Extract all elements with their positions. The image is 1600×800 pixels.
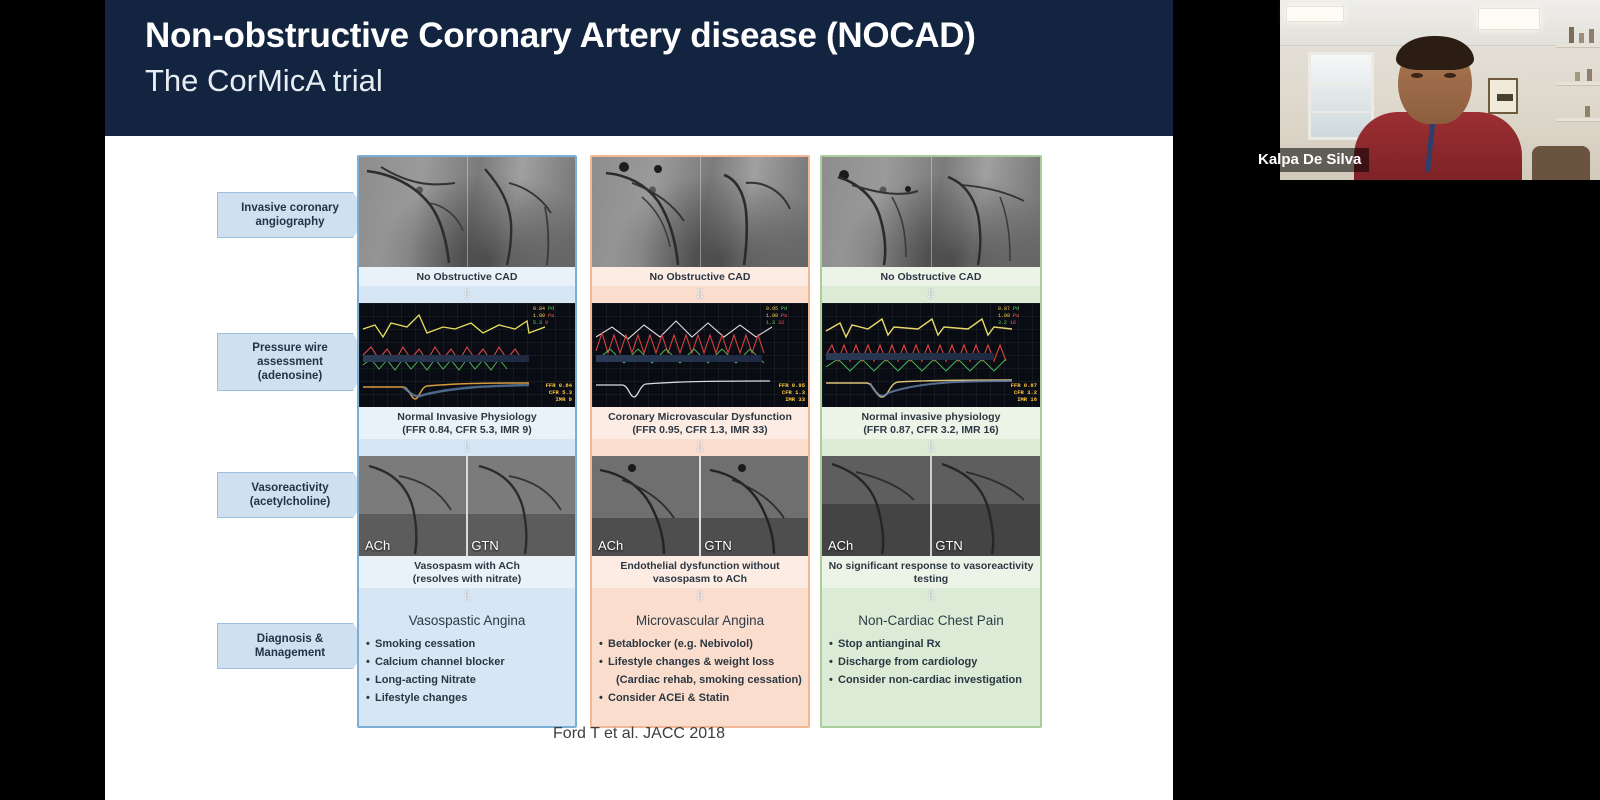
column-non-cardiac: No Obstructive CAD ⇩ 0.87 Pd 1.00 Pa bbox=[820, 155, 1042, 728]
screen: Non-obstructive Coronary Artery disease … bbox=[0, 0, 1600, 800]
angiogram-image bbox=[359, 157, 575, 267]
diagnosis-box: Microvascular Angina Betablocker (e.g. N… bbox=[592, 605, 808, 717]
vaso-caption-line1: No significant response to vasoreactivit… bbox=[826, 560, 1036, 573]
participant-name: Kalpa De Silva bbox=[1248, 148, 1369, 172]
list-item: Calcium channel blocker bbox=[365, 653, 569, 671]
vessel-overlay-icon bbox=[592, 456, 808, 556]
physiology-caption: Normal Invasive Physiology (FFR 0.84, CF… bbox=[359, 407, 575, 439]
angiogram-image bbox=[822, 157, 1040, 267]
vaso-caption-line1: Endothelial dysfunction without bbox=[596, 560, 804, 573]
wall-picture bbox=[1488, 78, 1518, 114]
angio-caption: No Obstructive CAD bbox=[822, 267, 1040, 286]
page-subtitle: The CorMicA trial bbox=[145, 60, 1173, 102]
list-item: (Cardiac rehab, smoking cessation) bbox=[598, 671, 802, 689]
list-item: Lifestyle changes & weight loss bbox=[598, 653, 802, 671]
physiology-caption: Normal invasive physiology (FFR 0.87, CF… bbox=[822, 407, 1040, 439]
management-list: Stop antianginal Rx Discharge from cardi… bbox=[828, 635, 1034, 689]
trace-values: FFR 0.84 CFR 5.3 IMR 9 bbox=[546, 382, 572, 403]
arrow-down-icon: ⇩ bbox=[693, 589, 707, 603]
shelf bbox=[1556, 118, 1600, 122]
vasoreactivity-caption: Endothelial dysfunction without vasospas… bbox=[592, 556, 808, 588]
angio-caption: No Obstructive CAD bbox=[359, 267, 575, 286]
physiology-caption-line2: (FFR 0.84, CFR 5.3, IMR 9) bbox=[363, 424, 571, 437]
vasoreactivity-caption: No significant response to vasoreactivit… bbox=[822, 556, 1040, 588]
physiology-caption: Coronary Microvascular Dysfunction (FFR … bbox=[592, 407, 808, 439]
trace-readout: 0.87 Pd 1.00 Pa 3.2 16 bbox=[998, 306, 1038, 327]
list-item: Lifestyle changes bbox=[365, 689, 569, 707]
stage-label-text: Diagnosis & Management bbox=[226, 632, 354, 660]
stage-label-vasoreactivity: Vasoreactivity (acetylcholine) bbox=[217, 472, 369, 518]
column-microvascular: No Obstructive CAD ⇩ 0.95 Pd 1.00 Pa 1. bbox=[590, 155, 810, 728]
vessel-overlay-icon bbox=[822, 456, 1040, 556]
physiology-caption-line2: (FFR 0.95, CFR 1.3, IMR 33) bbox=[596, 424, 804, 437]
list-item: Betablocker (e.g. Nebivolol) bbox=[598, 635, 802, 653]
arrow-down-icon: ⇩ bbox=[693, 287, 707, 301]
ach-label: ACh bbox=[828, 538, 853, 553]
angio-caption: No Obstructive CAD bbox=[592, 267, 808, 286]
stage-label-text: Invasive coronary angiography bbox=[226, 201, 354, 229]
ceiling-light bbox=[1286, 6, 1344, 22]
arrow-down-icon: ⇩ bbox=[460, 287, 474, 301]
diagnosis-box: Vasospastic Angina Smoking cessation Cal… bbox=[359, 605, 575, 717]
trace-values: FFR 0.95 CFR 1.3 IMR 33 bbox=[779, 382, 805, 403]
trace-readout: 0.84 Pd 1.00 Pa 5.3 9 bbox=[533, 306, 573, 327]
trace-readout: 0.95 Pd 1.00 Pa 1.3 33 bbox=[766, 306, 806, 327]
vasoreactivity-caption: Vasospasm with ACh (resolves with nitrat… bbox=[359, 556, 575, 588]
ceiling-light bbox=[1478, 8, 1540, 30]
pressure-wire-trace-image: 0.84 Pd 1.00 Pa 5.3 9 FFR 0.84 CFR 5.3 I… bbox=[359, 303, 575, 407]
chair bbox=[1532, 146, 1590, 180]
vessel-overlay-icon bbox=[359, 456, 575, 556]
vasoreactivity-image: ACh GTN bbox=[592, 456, 808, 556]
citation: Ford T et al. JACC 2018 bbox=[105, 725, 1173, 743]
diagnosis-title: Vasospastic Angina bbox=[365, 613, 569, 628]
vaso-caption-line2: (resolves with nitrate) bbox=[363, 573, 571, 586]
angiogram-image bbox=[592, 157, 808, 267]
diagnosis-title: Non-Cardiac Chest Pain bbox=[828, 613, 1034, 628]
list-item: Stop antianginal Rx bbox=[828, 635, 1034, 653]
slide-header: Non-obstructive Coronary Artery disease … bbox=[105, 0, 1173, 136]
list-item: Discharge from cardiology bbox=[828, 653, 1034, 671]
list-item: Consider ACEi & Statin bbox=[598, 689, 802, 707]
page-title: Non-obstructive Coronary Artery disease … bbox=[145, 14, 1173, 58]
cormica-figure: Invasive coronary angiography Pressure w… bbox=[105, 136, 1173, 800]
column-vasospastic: No Obstructive CAD ⇩ 0.84 Pd 1.00 Pa bbox=[357, 155, 577, 728]
gtn-label: GTN bbox=[471, 538, 498, 553]
stage-label-text: Pressure wire assessment (adenosine) bbox=[226, 341, 354, 383]
pressure-wire-trace-image: 0.95 Pd 1.00 Pa 1.3 33 FFR 0.95 CFR 1.3 … bbox=[592, 303, 808, 407]
list-item: Long-acting Nitrate bbox=[365, 671, 569, 689]
diagnosis-box: Non-Cardiac Chest Pain Stop antianginal … bbox=[822, 605, 1040, 699]
management-list: Betablocker (e.g. Nebivolol) Lifestyle c… bbox=[598, 635, 802, 707]
ach-label: ACh bbox=[598, 538, 623, 553]
shelf bbox=[1556, 82, 1600, 86]
physiology-caption-line1: Normal invasive physiology bbox=[826, 411, 1036, 424]
arrow-down-icon: ⇩ bbox=[460, 589, 474, 603]
arrow-down-icon: ⇩ bbox=[460, 440, 474, 454]
ach-label: ACh bbox=[365, 538, 390, 553]
presentation-slide: Non-obstructive Coronary Artery disease … bbox=[105, 0, 1173, 800]
vasoreactivity-image: ACh GTN bbox=[359, 456, 575, 556]
diagnosis-title: Microvascular Angina bbox=[598, 613, 802, 628]
list-item: Consider non-cardiac investigation bbox=[828, 671, 1034, 689]
gtn-label: GTN bbox=[704, 538, 731, 553]
stage-label-pressure-wire: Pressure wire assessment (adenosine) bbox=[217, 333, 369, 391]
pressure-wire-trace-image: 0.87 Pd 1.00 Pa 3.2 16 FFR 0.87 CFR 3.2 … bbox=[822, 303, 1040, 407]
arrow-down-icon: ⇩ bbox=[924, 589, 938, 603]
vaso-caption-line1: Vasospasm with ACh bbox=[363, 560, 571, 573]
stage-label-diagnosis: Diagnosis & Management bbox=[217, 623, 369, 669]
vaso-caption-line2: testing bbox=[826, 573, 1036, 586]
stage-label-angiography: Invasive coronary angiography bbox=[217, 192, 369, 238]
vasoreactivity-image: ACh GTN bbox=[822, 456, 1040, 556]
trace-values: FFR 0.87 CFR 3.2 IMR 16 bbox=[1011, 382, 1037, 403]
arrow-down-icon: ⇩ bbox=[693, 440, 707, 454]
arrow-down-icon: ⇩ bbox=[924, 440, 938, 454]
gtn-label: GTN bbox=[935, 538, 962, 553]
arrow-down-icon: ⇩ bbox=[924, 287, 938, 301]
participant-video-tile[interactable]: Kalpa De Silva bbox=[1248, 0, 1600, 180]
management-list: Smoking cessation Calcium channel blocke… bbox=[365, 635, 569, 707]
physiology-caption-line1: Coronary Microvascular Dysfunction bbox=[596, 411, 804, 424]
list-item: Smoking cessation bbox=[365, 635, 569, 653]
shelf bbox=[1556, 44, 1600, 48]
physiology-caption-line2: (FFR 0.87, CFR 3.2, IMR 16) bbox=[826, 424, 1036, 437]
physiology-caption-line1: Normal Invasive Physiology bbox=[363, 411, 571, 424]
vaso-caption-line2: vasospasm to ACh bbox=[596, 573, 804, 586]
stage-label-text: Vasoreactivity (acetylcholine) bbox=[226, 481, 354, 509]
